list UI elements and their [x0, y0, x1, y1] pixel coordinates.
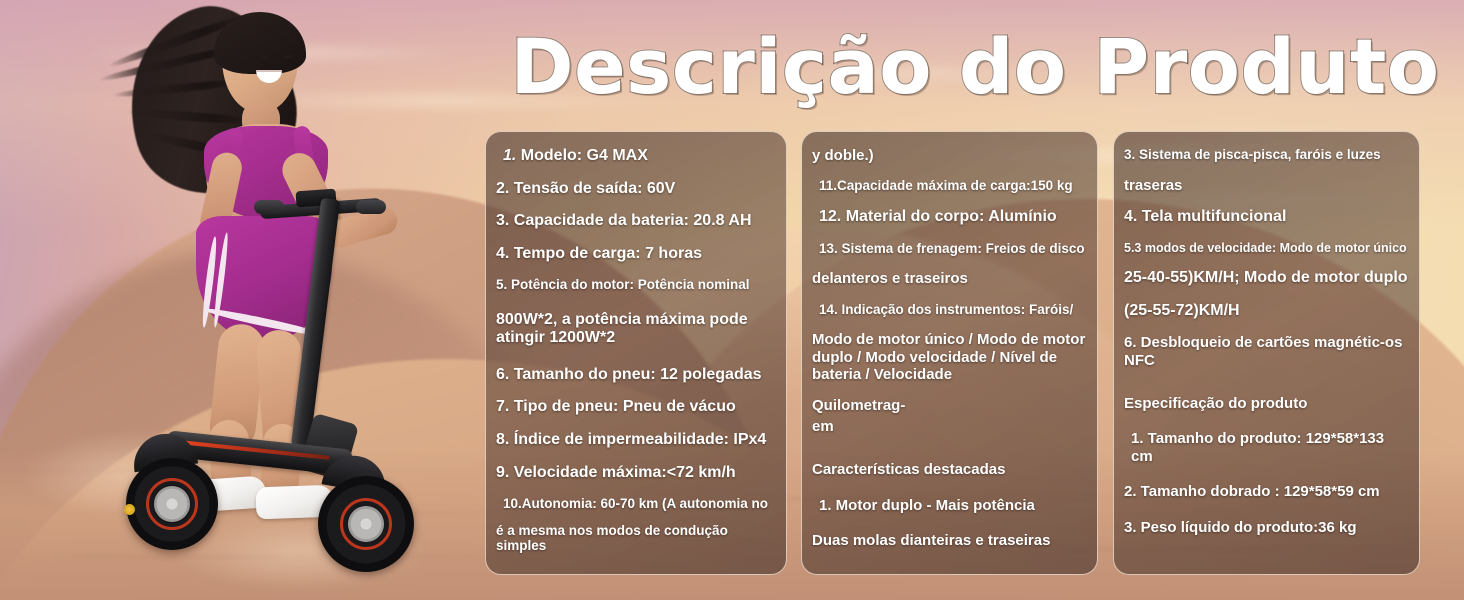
eye: [284, 55, 293, 58]
spec-line: Duas molas dianteiras e traseiras: [812, 532, 1087, 549]
spec-line-number: 1.: [503, 147, 516, 164]
spec-line: 3. Peso líquido do produto:36 kg: [1124, 519, 1409, 536]
spec-line: 10.Autonomia: 60-70 km (A autonomia no: [496, 496, 776, 512]
spec-column-3: 3. Sistema de pisca-pisca, faróis e luze…: [1113, 131, 1420, 575]
spec-line: 25-40-55)KM/H; Modo de motor duplo: [1124, 269, 1409, 288]
spec-line: 9. Velocidade máxima:<72 km/h: [496, 464, 776, 483]
spec-line: 3. Sistema de pisca-pisca, faróis e luze…: [1124, 147, 1409, 163]
spec-column-2: y doble.)11.Capacidade máxima de carga:1…: [801, 131, 1098, 575]
spec-line: Características destacadas: [812, 461, 1087, 478]
spec-line-body: Modelo: G4 MAX: [516, 147, 648, 164]
spec-line: 800W*2, a potência máxima pode atingir 1…: [496, 311, 776, 348]
spec-line: 1. Motor duplo - Mais potência: [812, 497, 1087, 514]
spec-line: 4. Tela multifuncional: [1124, 208, 1409, 227]
spec-line: 3. Capacidade da bateria: 20.8 AH: [496, 212, 776, 231]
spec-line: delanteros e traseiros: [812, 270, 1087, 287]
spec-line: 13. Sistema de frenagem: Freios de disco: [812, 241, 1087, 257]
spec-line: Quilometrag-: [812, 397, 1087, 414]
spec-line: y doble.): [812, 147, 1087, 164]
spec-column-1: 1. Modelo: G4 MAX2. Tensão de saída: 60V…: [485, 131, 787, 575]
spec-line: 6. Desbloqueio de cartões magnétic-os NF…: [1124, 334, 1409, 369]
spec-line: 2. Tensão de saída: 60V: [496, 180, 776, 199]
spec-line: 8. Índice de impermeabilidade: IPx4: [496, 431, 776, 450]
spec-line: 12. Material do corpo: Alumínio: [812, 208, 1087, 227]
spec-line: 1. Modelo: G4 MAX: [496, 147, 776, 166]
spec-line: 4. Tempo de carga: 7 horas: [496, 245, 776, 264]
page-title: Descrição do Produto: [560, 14, 1390, 118]
spec-line: Especificação do produto: [1124, 395, 1409, 412]
spec-cards-container: 1. Modelo: G4 MAX2. Tensão de saída: 60V…: [0, 131, 1464, 575]
spec-line: 14. Indicação dos instrumentos: Faróis/: [812, 302, 1087, 318]
spec-line: 6. Tamanho do pneu: 12 polegadas: [496, 366, 776, 385]
spec-line: Modo de motor único / Modo de motor dupl…: [812, 331, 1087, 383]
eye: [260, 56, 269, 59]
page-title-text: Descrição do Produto: [511, 22, 1440, 111]
spec-line: 5. Potência do motor: Potência nominal: [496, 277, 776, 293]
spec-line: em: [812, 418, 1087, 435]
spec-line: 11.Capacidade máxima de carga:150 kg: [812, 178, 1087, 194]
spec-line: 2. Tamanho dobrado : 129*58*59 cm: [1124, 483, 1409, 500]
spec-line: traseras: [1124, 177, 1409, 194]
spec-line: (25-55-72)KM/H: [1124, 302, 1409, 321]
spec-line: 5.3 modos de velocidade: Modo de motor ú…: [1124, 241, 1409, 256]
spec-line: é a mesma nos modos de condução simples: [496, 523, 776, 554]
spec-line: 1. Tamanho do produto: 129*58*133 cm: [1124, 430, 1409, 465]
spec-line: 7. Tipo de pneu: Pneu de vácuo: [496, 398, 776, 417]
